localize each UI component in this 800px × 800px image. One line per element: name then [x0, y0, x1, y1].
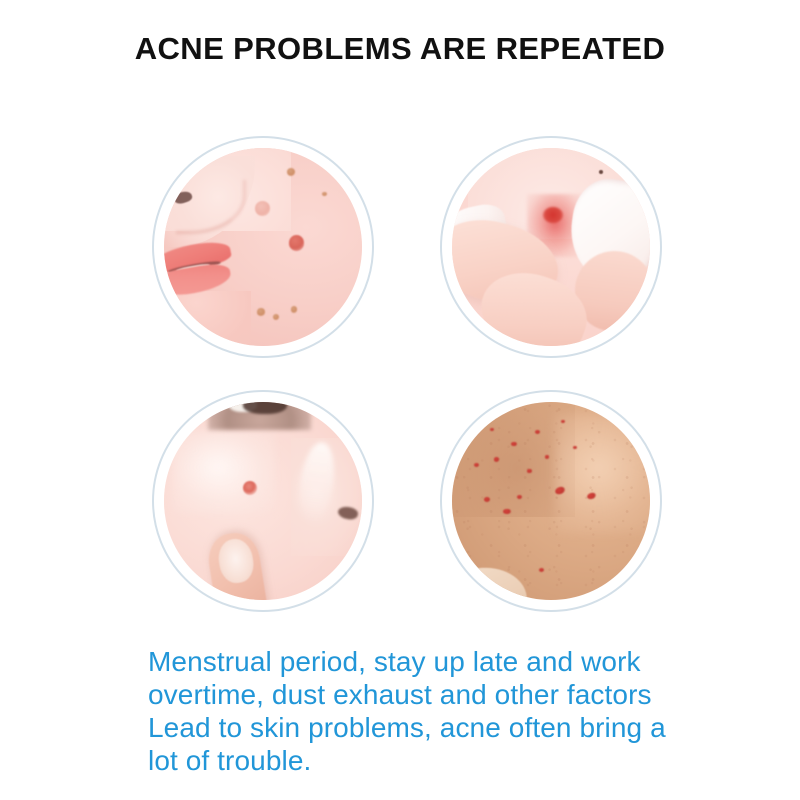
caption-line-2: overtime, dust exhaust and other factors: [148, 678, 678, 711]
page-title: ACNE PROBLEMS ARE REPEATED: [0, 32, 800, 66]
caption-line-1: Menstrual period, stay up late and work: [148, 645, 678, 678]
photo-image-squeezing-pimple: [452, 148, 650, 346]
photo-circle-top-left: [152, 136, 374, 358]
photo-gallery: [152, 136, 662, 612]
photo-circle-top-right: [440, 136, 662, 358]
photo-image-cheek-single-pimple: [164, 402, 362, 600]
photo-circle-bottom-left: [152, 390, 374, 612]
caption-line-4: lot of trouble.: [148, 744, 678, 777]
photo-image-skin-with-many-spots: [452, 402, 650, 600]
caption-line-3: Lead to skin problems, acne often bring …: [148, 711, 678, 744]
caption-block: Menstrual period, stay up late and work …: [148, 645, 678, 777]
photo-image-face-with-acne: [164, 148, 362, 346]
infographic-page: ACNE PROBLEMS ARE REPEATED: [0, 0, 800, 800]
photo-circle-bottom-right: [440, 390, 662, 612]
